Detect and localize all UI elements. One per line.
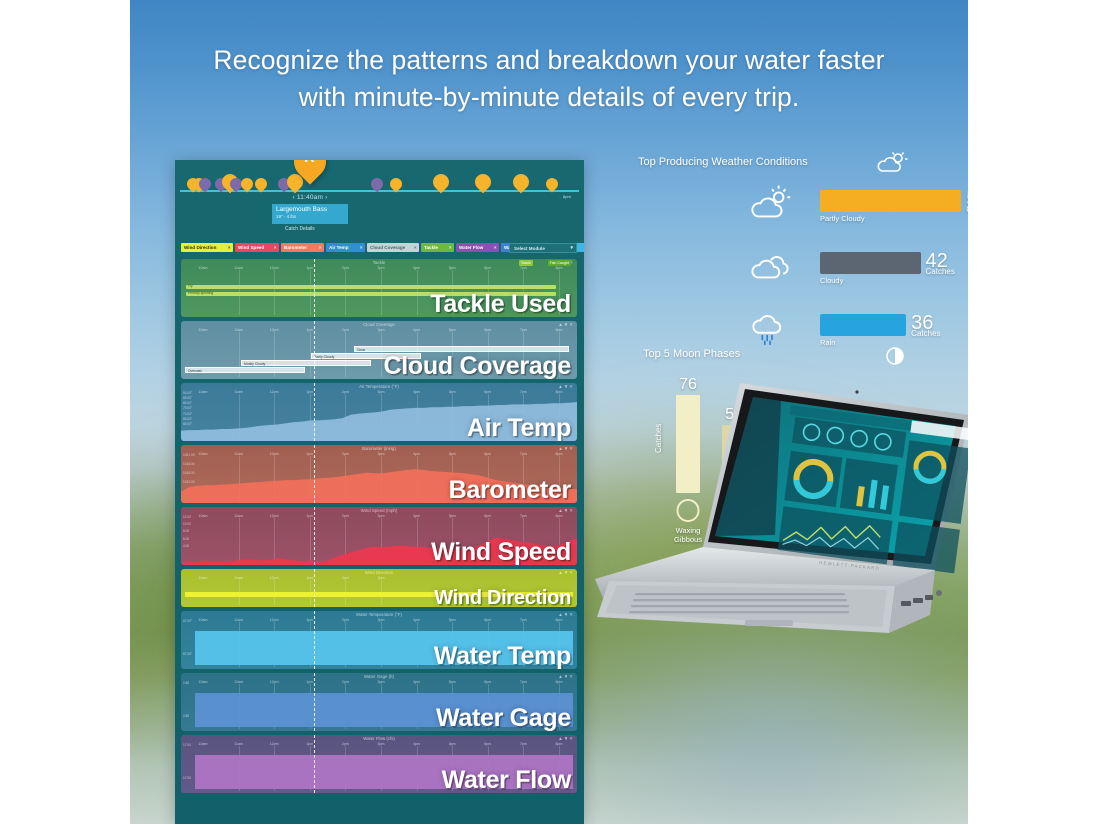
x-tick-label: 7pm	[520, 514, 527, 518]
current-time-label: 11:40am	[297, 194, 323, 201]
x-tick-label: 5pm	[449, 680, 456, 684]
current-time-marker	[314, 735, 315, 793]
current-time-marker	[314, 259, 315, 317]
chart-title: Water Flow (cfs)	[181, 736, 577, 741]
chart-row-air-temp: Air Temperature (°F)▲▼✕10am11am12pm1pm2p…	[181, 383, 577, 441]
x-tick-label: 5pm	[449, 742, 456, 746]
x-tick-label: 2pm	[342, 680, 349, 684]
tackle-legend-fish-caught: Fish Caught	[548, 260, 571, 266]
tackle-legend-tackle: Tackle	[519, 260, 533, 266]
fish-logo-icon: K	[294, 160, 326, 166]
x-tick-label: 12pm	[270, 452, 279, 456]
x-tick-label: 3pm	[378, 514, 385, 518]
x-tick-label: 8pm	[556, 390, 563, 394]
x-tick-label: 12pm	[270, 742, 279, 746]
module-overlay-label: Water Flow	[442, 766, 571, 793]
catch-tooltip[interactable]: Largemouth Bass 19" · 4 lbs	[272, 204, 348, 224]
chip-remove-icon[interactable]: ×	[360, 243, 363, 252]
x-tick-label: 1pm	[306, 742, 313, 746]
chip-remove-icon[interactable]: ×	[449, 243, 452, 252]
x-tick-label: 12pm	[270, 576, 279, 580]
chart-title: Wind Speed (mph)	[181, 508, 577, 513]
moon-icon	[885, 346, 905, 366]
x-tick-label: 8pm	[556, 680, 563, 684]
cloud-coverage-block[interactable]: Mostly Cloudy	[241, 360, 371, 366]
x-tick-label: 5pm	[449, 618, 456, 622]
x-tick-label: 4pm	[413, 618, 420, 622]
x-tick-label: 12pm	[270, 680, 279, 684]
x-tick-label: 5pm	[449, 514, 456, 518]
close-icon[interactable]: ✕	[569, 384, 574, 389]
x-tick-label: 8pm	[556, 514, 563, 518]
x-tick-label: 5pm	[449, 266, 456, 270]
x-tick-label: 4pm	[413, 390, 420, 394]
chip-remove-icon[interactable]: ×	[319, 243, 322, 252]
x-tick-label: 4pm	[413, 680, 420, 684]
laptop-mockup: HEWLETT-PACKARD	[595, 365, 968, 655]
x-tick-label: 3pm	[378, 618, 385, 622]
x-tick-label: 2pm	[342, 452, 349, 456]
current-time-marker	[314, 445, 315, 503]
x-tick-label: 10am	[199, 514, 208, 518]
chevron-down-icon[interactable]: ▾	[570, 244, 573, 253]
x-tick-label: 1pm	[306, 680, 313, 684]
y-tick-label: 17.00	[183, 744, 191, 747]
cloud-coverage-label: Clear	[357, 347, 365, 353]
x-tick-label: 11am	[234, 576, 243, 580]
module-overlay-label: Cloud Coverage	[384, 352, 572, 379]
chart-title: Wind Direction	[181, 570, 577, 575]
module-overlay-label: Wind Direction	[434, 587, 571, 607]
x-tick-label: 12pm	[270, 390, 279, 394]
x-tick-label: 12pm	[270, 514, 279, 518]
module-overlay-label: Water Temp	[434, 642, 571, 669]
chip-label: Wind Speed	[238, 245, 264, 250]
chart-row-water-temp: Water Temperature (°F)▲▼✕10am11am12pm1pm…	[181, 611, 577, 669]
x-tick-label: 4pm	[413, 514, 420, 518]
x-tick-label: 1pm	[306, 514, 313, 518]
next-catch-icon[interactable]: ›	[325, 194, 327, 201]
x-tick-label: 7pm	[520, 742, 527, 746]
x-tick-label: 11am	[234, 514, 243, 518]
cloud-coverage-label: Mostly Cloudy	[244, 361, 265, 367]
pin-marker-icon	[544, 176, 561, 193]
x-tick-label: 10am	[199, 328, 208, 332]
filter-chip-wind-direction[interactable]: Wind Direction×	[181, 243, 233, 252]
x-tick-label: 7pm	[520, 452, 527, 456]
x-tick-label: 11am	[234, 742, 243, 746]
catch-timeline[interactable]: K ‹ 11:40am › 8pm Largemouth Bass 19" · …	[175, 160, 584, 210]
catch-details-link[interactable]: Catch Details	[285, 226, 315, 232]
x-tick-label: 3pm	[378, 266, 385, 270]
x-tick-label: 6pm	[484, 328, 491, 332]
pin-marker-icon	[253, 176, 270, 193]
timeline-pin[interactable]	[475, 174, 491, 194]
x-tick-label: 8pm	[556, 452, 563, 456]
x-tick-label: 10am	[199, 618, 208, 622]
module-overlay-label: Water Gage	[436, 704, 571, 731]
pin-marker-icon	[510, 171, 533, 194]
current-time-marker	[314, 611, 315, 669]
x-tick-label: 4pm	[413, 328, 420, 332]
cloud-icon	[748, 246, 794, 282]
x-tick-label: 4pm	[413, 742, 420, 746]
headline-line-2: with minute-by-minute details of every t…	[130, 79, 968, 116]
x-tick-label: 6pm	[484, 618, 491, 622]
chip-remove-icon[interactable]: ×	[414, 243, 417, 252]
timeline-pin[interactable]	[546, 178, 558, 194]
current-time-marker	[314, 569, 315, 607]
current-time-marker	[314, 321, 315, 379]
timeline-pin[interactable]	[390, 178, 402, 194]
x-tick-label: 12pm	[270, 328, 279, 332]
tackle-bar-label: Primary spinning	[188, 291, 213, 295]
x-tick-label: 3pm	[378, 328, 385, 332]
pin-marker-icon	[197, 176, 214, 193]
close-icon[interactable]: ✕	[569, 508, 574, 513]
weather-category-label: Partly Cloudy	[820, 214, 865, 223]
module-filter-chips[interactable]: Wind Direction×Wind Speed×Barometer×Air …	[181, 243, 578, 254]
x-tick-label: 10am	[199, 266, 208, 270]
filter-chip-water-flow[interactable]: Water Flow×	[456, 243, 499, 252]
weather-category-label: Cloudy	[820, 276, 843, 285]
pin-marker-icon	[388, 176, 405, 193]
pin-marker-icon	[369, 176, 386, 193]
close-icon[interactable]: ✕	[569, 446, 574, 451]
module-overlay-label: Tackle Used	[430, 290, 571, 317]
chart-row-water-gage: Water Gage (ft)▲▼✕10am11am12pm1pm2pm3pm4…	[181, 673, 577, 731]
chart-title: Water Gage (ft)	[181, 674, 577, 679]
chip-label: Wind Direction	[184, 245, 216, 250]
x-tick-label: 11am	[234, 452, 243, 456]
weather-value-unit: Catches	[911, 329, 940, 338]
chart-row-wind-direction: Wind Direction▲▼✕10am11am12pm1pm2pm3pmWi…	[181, 569, 577, 607]
current-time-marker	[314, 507, 315, 565]
x-tick-label: 5pm	[449, 452, 456, 456]
tackle-bar-label: Fly	[188, 284, 193, 288]
x-tick-label: 10am	[199, 576, 208, 580]
x-tick-label: 6pm	[484, 742, 491, 746]
y-tick-label: 67.00°	[183, 620, 192, 623]
x-tick-label: 2pm	[342, 576, 349, 580]
weather-bar[interactable]	[820, 190, 961, 212]
current-time-marker	[314, 383, 315, 441]
x-tick-label: 7pm	[520, 680, 527, 684]
x-tick-label: 1pm	[306, 328, 313, 332]
y-tick-label: 90.00°	[183, 392, 192, 395]
trip-dashboard-panel: K ‹ 11:40am › 8pm Largemouth Bass 19" · …	[175, 160, 584, 824]
y-tick-label: 2.80	[183, 682, 189, 685]
weather-bar[interactable]	[820, 252, 921, 274]
x-tick-label: 1pm	[306, 266, 313, 270]
chart-row-tackle: Tackle▲▼✕10am11am12pm1pm2pm3pm4pm5pm6pm7…	[181, 259, 577, 317]
pin-marker-icon	[472, 171, 495, 194]
x-tick-label: 12pm	[270, 266, 279, 270]
weather-widget-title: Top Producing Weather Conditions	[638, 156, 808, 168]
catch-measurements: 19" · 4 lbs	[276, 214, 344, 220]
x-tick-label: 12pm	[270, 618, 279, 622]
chip-label: Barometer	[284, 245, 307, 250]
x-tick-label: 3pm	[378, 742, 385, 746]
chart-title: Barometer (inHg)	[181, 446, 577, 451]
sun-cloud-icon	[748, 184, 794, 220]
x-tick-label: 11am	[234, 390, 243, 394]
weather-bar[interactable]	[820, 314, 906, 336]
x-tick-label: 10am	[199, 452, 208, 456]
timeline-pin[interactable]	[199, 178, 211, 194]
x-tick-label: 3pm	[378, 452, 385, 456]
weather-value-unit: Catches	[966, 205, 968, 214]
x-tick-label: 5pm	[449, 328, 456, 332]
x-tick-label: 10am	[199, 742, 208, 746]
x-tick-label: 1pm	[306, 390, 313, 394]
x-tick-label: 3pm	[378, 576, 385, 580]
cloud-coverage-block[interactable]: Overcast	[185, 367, 305, 373]
chip-remove-icon[interactable]: ×	[274, 243, 277, 252]
tackle-bar[interactable]: Fly	[186, 285, 556, 289]
close-icon[interactable]: ✕	[569, 612, 574, 617]
chip-remove-icon[interactable]: ×	[494, 243, 497, 252]
filter-chip-tackle[interactable]: Tackle×	[421, 243, 454, 252]
x-tick-label: 7pm	[520, 618, 527, 622]
chip-label: Water Flow	[459, 245, 483, 250]
x-tick-label: 7pm	[520, 328, 527, 332]
chart-title: Air Temperature (°F)	[181, 384, 577, 389]
chart-title: Water Temperature (°F)	[181, 612, 577, 617]
pin-marker-icon	[239, 176, 256, 193]
x-tick-label: 5pm	[449, 390, 456, 394]
x-tick-label: 6pm	[484, 266, 491, 270]
timeline-pin[interactable]	[255, 178, 267, 194]
cloud-coverage-label: Overcast	[188, 368, 202, 374]
headline: Recognize the patterns and breakdown you…	[130, 42, 968, 116]
close-icon[interactable]: ✕	[569, 736, 574, 741]
timeline-pin[interactable]	[433, 174, 449, 194]
x-tick-label: 1pm	[306, 576, 313, 580]
x-tick-label: 2pm	[342, 266, 349, 270]
x-tick-label: 7pm	[520, 266, 527, 270]
y-tick-label: 12.00	[183, 516, 191, 519]
close-icon[interactable]: ✕	[569, 322, 574, 327]
x-tick-label: 10am	[199, 390, 208, 394]
y-tick-label: 1021.00	[183, 454, 195, 457]
x-tick-label: 8pm	[556, 266, 563, 270]
x-tick-label: 6pm	[484, 390, 491, 394]
x-tick-label: 6pm	[484, 452, 491, 456]
timeline-pin[interactable]	[241, 178, 253, 194]
x-tick-label: 1pm	[306, 452, 313, 456]
x-tick-label: 6pm	[484, 680, 491, 684]
module-overlay-label: Air Temp	[467, 414, 571, 441]
x-tick-label: 3pm	[378, 680, 385, 684]
timeline-pin[interactable]	[371, 178, 383, 194]
x-tick-label: 4pm	[413, 452, 420, 456]
filter-chip-cloud-coverage[interactable]: Cloud Coverage×	[367, 243, 419, 252]
filter-chip-wind-speed[interactable]: Wind Speed×	[235, 243, 279, 252]
close-icon[interactable]: ✕	[569, 570, 574, 575]
x-tick-label: 8pm	[556, 618, 563, 622]
module-overlay-label: Wind Speed	[431, 538, 571, 565]
chip-label: Cloud Coverage	[370, 245, 405, 250]
x-tick-label: 7pm	[520, 390, 527, 394]
x-tick-label: 4pm	[413, 266, 420, 270]
filter-chip-air-temp[interactable]: Air Temp×	[326, 243, 365, 252]
x-tick-label: 2pm	[342, 742, 349, 746]
chart-title: Cloud Coverage	[181, 322, 577, 327]
prev-catch-icon[interactable]: ‹	[293, 194, 295, 201]
weather-value-unit: Catches	[926, 267, 955, 276]
x-tick-label: 11am	[234, 680, 243, 684]
timeline-time-nav[interactable]: ‹ 11:40am ›	[273, 194, 347, 201]
chart-row-cloud-coverage: Cloud Coverage▲▼✕10am11am12pm1pm2pm3pm4p…	[181, 321, 577, 379]
cloud-coverage-label: Partly Cloudy	[314, 354, 334, 360]
x-tick-label: 8pm	[556, 328, 563, 332]
x-tick-label: 3pm	[378, 390, 385, 394]
select-module-label: Select Module	[514, 246, 545, 251]
chart-row-water-flow: Water Flow (cfs)▲▼✕10am11am12pm1pm2pm3pm…	[181, 735, 577, 793]
x-tick-label: 2pm	[342, 328, 349, 332]
timeline-end-label: 8pm	[563, 194, 571, 199]
headline-line-1: Recognize the patterns and breakdown you…	[130, 42, 968, 79]
promo-stage: Recognize the patterns and breakdown you…	[130, 0, 968, 824]
x-tick-label: 2pm	[342, 390, 349, 394]
partly-cloudy-icon	[875, 151, 909, 175]
moon-widget-title: Top 5 Moon Phases	[643, 348, 740, 360]
timeline-pin[interactable]	[513, 174, 529, 194]
x-tick-label: 6pm	[484, 514, 491, 518]
x-tick-label: 1pm	[306, 618, 313, 622]
x-tick-label: 11am	[234, 266, 243, 270]
current-time-marker	[314, 673, 315, 731]
chart-row-barometer: Barometer (inHg)▲▼✕10am11am12pm1pm2pm3pm…	[181, 445, 577, 503]
x-tick-label: 11am	[234, 328, 243, 332]
chip-remove-icon[interactable]: ×	[228, 243, 231, 252]
x-tick-label: 10am	[199, 680, 208, 684]
module-overlay-label: Barometer	[449, 476, 571, 503]
x-tick-label: 2pm	[342, 514, 349, 518]
x-tick-label: 8pm	[556, 742, 563, 746]
rain-cloud-icon	[748, 308, 794, 344]
chart-row-wind-speed: Wind Speed (mph)▲▼✕10am11am12pm1pm2pm3pm…	[181, 507, 577, 565]
x-tick-label: 11am	[234, 618, 243, 622]
pin-marker-icon	[430, 171, 453, 194]
chip-label: Air Temp	[329, 245, 349, 250]
chart-title: Tackle	[181, 260, 577, 265]
select-module-dropdown[interactable]: Select Module▾	[509, 243, 577, 253]
filter-chip-barometer[interactable]: Barometer×	[281, 243, 324, 252]
selected-catch-pin[interactable]: K	[294, 160, 326, 190]
x-tick-label: 2pm	[342, 618, 349, 622]
close-icon[interactable]: ✕	[569, 674, 574, 679]
catch-species: Largemouth Bass	[276, 206, 344, 214]
chip-label: Tackle	[424, 245, 438, 250]
weather-category-label: Rain	[820, 338, 835, 347]
